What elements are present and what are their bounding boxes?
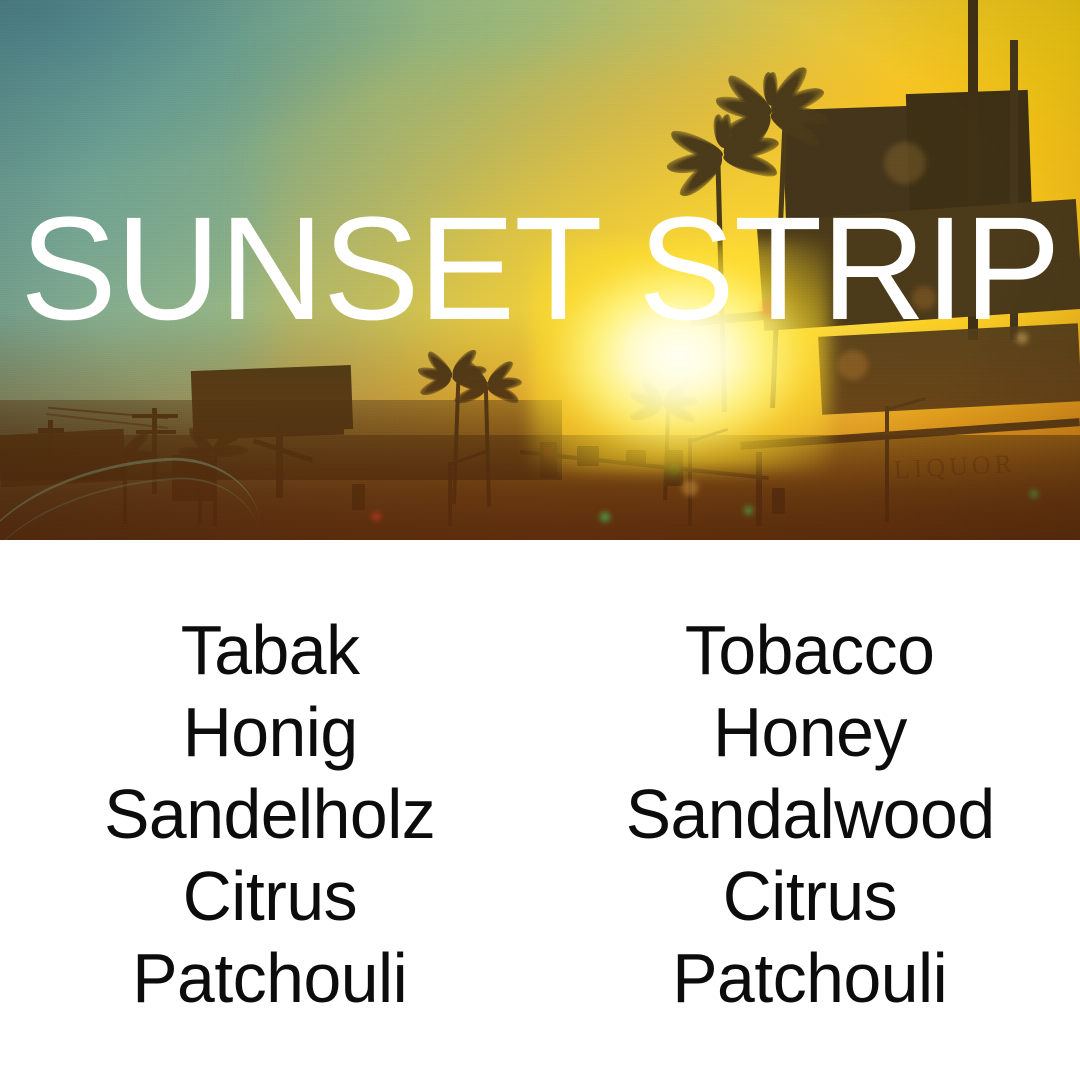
note-item: Tabak bbox=[181, 609, 360, 691]
note-item: Honey bbox=[713, 691, 907, 773]
note-item: Patchouli bbox=[133, 937, 408, 1019]
note-item: Patchouli bbox=[673, 937, 948, 1019]
note-item: Honig bbox=[183, 691, 358, 773]
note-item: Citrus bbox=[183, 855, 357, 937]
notes-column-de: Tabak Honig Sandelholz Citrus Patchouli bbox=[0, 540, 540, 1080]
hero-photo: LIQUOR bbox=[0, 0, 1080, 540]
note-item: Sandalwood bbox=[626, 773, 995, 855]
note-item: Tobacco bbox=[685, 609, 935, 691]
notes-column-en: Tobacco Honey Sandalwood Citrus Patchoul… bbox=[540, 540, 1080, 1080]
note-item: Citrus bbox=[723, 855, 897, 937]
note-item: Sandelholz bbox=[104, 773, 435, 855]
scent-notes-section: Tabak Honig Sandelholz Citrus Patchouli … bbox=[0, 540, 1080, 1080]
page-title: SUNSET STRIP bbox=[8, 196, 1072, 343]
poster-canvas: LIQUOR bbox=[0, 0, 1080, 1080]
